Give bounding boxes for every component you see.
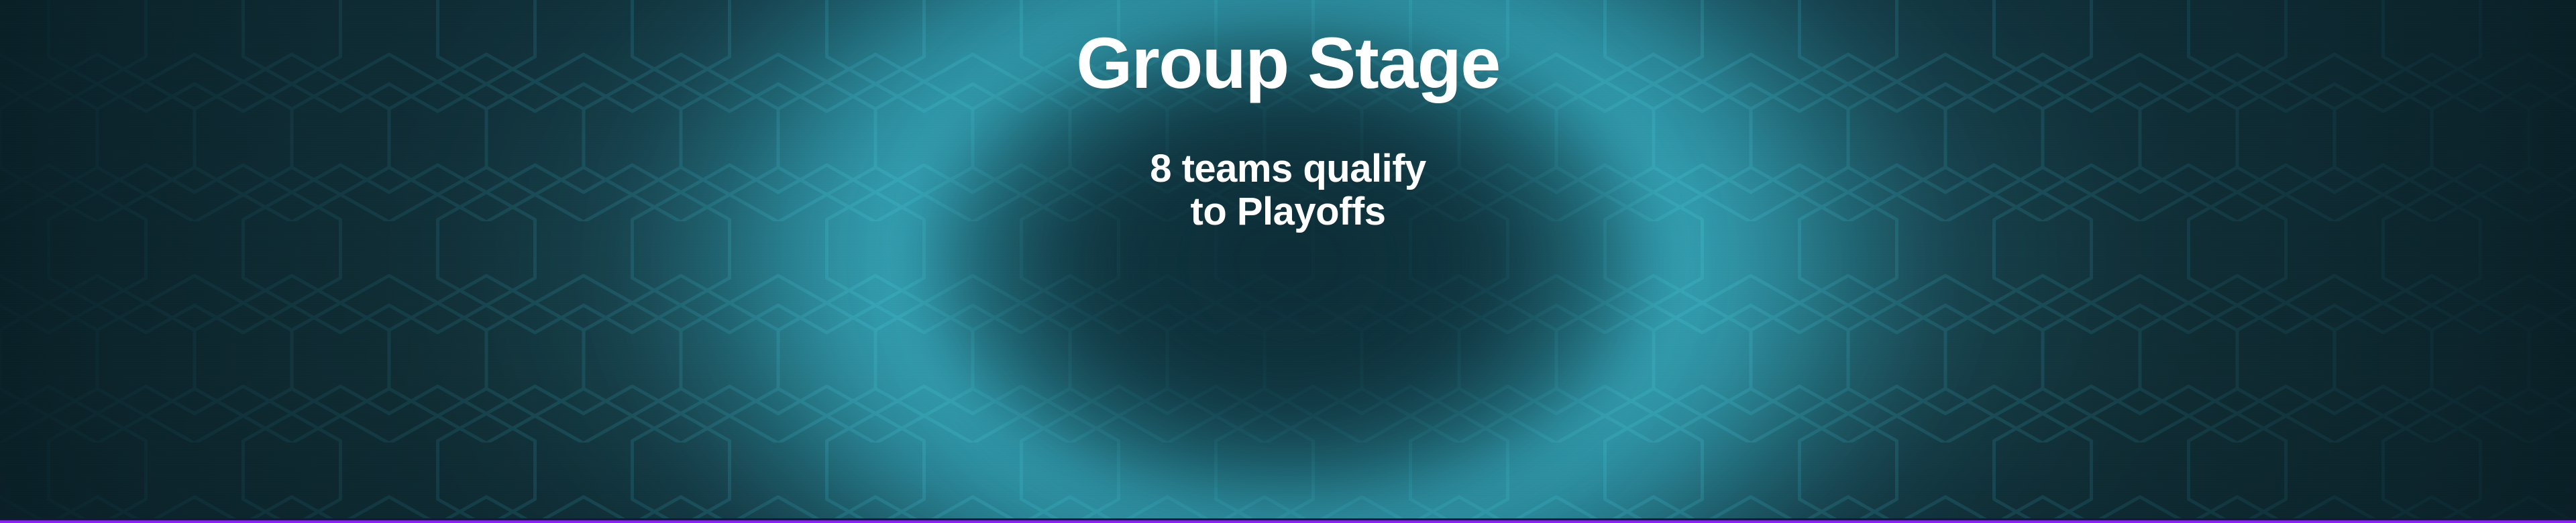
group-stage-banner: Group Stage 8 teams qualify to Playoffs [0,0,2576,523]
page-title: Group Stage [1076,0,1500,99]
bottom-accent-bar [0,520,2576,523]
subtitle-line-2: to Playoffs [1150,190,1426,233]
banner-content: Group Stage 8 teams qualify to Playoffs [0,0,2576,523]
subtitle-line-1: 8 teams qualify [1150,148,1426,190]
banner-subtitle: 8 teams qualify to Playoffs [1150,99,1426,233]
